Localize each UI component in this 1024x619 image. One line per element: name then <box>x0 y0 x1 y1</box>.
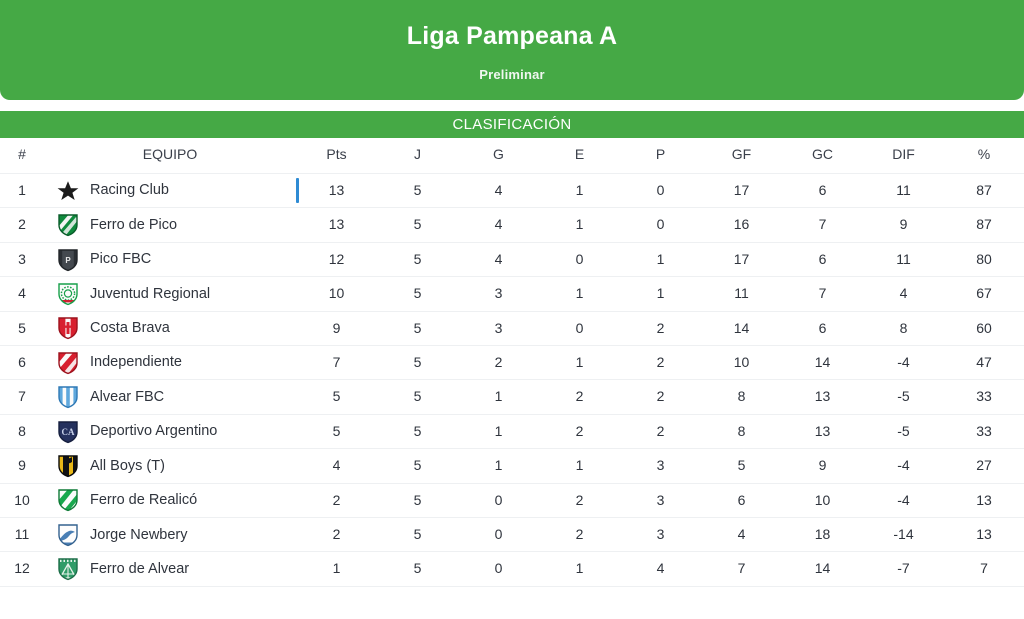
shield-star-black-icon <box>44 179 90 203</box>
row-dif: 9 <box>863 208 944 242</box>
row-pts: 2 <box>296 483 377 517</box>
team-name: Pico FBC <box>90 252 151 267</box>
team-name: Costa Brava <box>90 321 170 336</box>
row-g: 3 <box>458 311 539 345</box>
row-gf: 17 <box>701 174 782 208</box>
row-pct: 47 <box>944 346 1024 380</box>
team-name: Ferro de Realicó <box>90 493 197 508</box>
row-dif: -5 <box>863 380 944 414</box>
row-gf: 14 <box>701 311 782 345</box>
row-pct: 27 <box>944 449 1024 483</box>
row-pts: 9 <box>296 311 377 345</box>
row-rank: 10 <box>0 483 44 517</box>
row-pts: 5 <box>296 380 377 414</box>
row-dif: -4 <box>863 449 944 483</box>
row-rank: 12 <box>0 552 44 586</box>
row-gf: 8 <box>701 380 782 414</box>
row-g: 1 <box>458 449 539 483</box>
row-team[interactable]: Alvear FBC <box>44 380 296 414</box>
row-p: 2 <box>620 346 701 380</box>
row-rank: 7 <box>0 380 44 414</box>
row-e: 1 <box>539 174 620 208</box>
row-g: 0 <box>458 483 539 517</box>
row-gc: 14 <box>782 346 863 380</box>
row-pts: 1 <box>296 552 377 586</box>
row-team[interactable]: Costa Brava <box>44 311 296 345</box>
row-team[interactable]: Independiente <box>44 346 296 380</box>
row-e: 0 <box>539 311 620 345</box>
row-gc: 13 <box>782 380 863 414</box>
row-dif: 11 <box>863 174 944 208</box>
row-gf: 6 <box>701 483 782 517</box>
row-p: 0 <box>620 208 701 242</box>
row-gc: 6 <box>782 174 863 208</box>
row-gf: 17 <box>701 242 782 276</box>
row-j: 5 <box>377 346 458 380</box>
row-gc: 6 <box>782 311 863 345</box>
column-header-dif[interactable]: DIF <box>863 146 944 174</box>
row-team[interactable]: Juventud Regional <box>44 277 296 311</box>
row-j: 5 <box>377 552 458 586</box>
row-p: 2 <box>620 380 701 414</box>
standings-page: Liga Pampeana A Preliminar CLASIFICACIÓN… <box>0 0 1024 619</box>
row-pts: 7 <box>296 346 377 380</box>
row-gc: 7 <box>782 208 863 242</box>
row-j: 5 <box>377 208 458 242</box>
row-pct: 87 <box>944 174 1024 208</box>
row-pts: 10 <box>296 277 377 311</box>
section-band-clasificacion: CLASIFICACIÓN <box>0 111 1024 138</box>
tournament-stage-label: Preliminar <box>479 67 545 82</box>
row-dif: 4 <box>863 277 944 311</box>
row-dif: -5 <box>863 414 944 448</box>
row-gf: 7 <box>701 552 782 586</box>
row-rank: 11 <box>0 518 44 552</box>
team-name: Ferro de Alvear <box>90 562 189 577</box>
row-e: 0 <box>539 242 620 276</box>
row-p: 2 <box>620 414 701 448</box>
row-pts: 4 <box>296 449 377 483</box>
shield-white-blue-icon <box>44 523 90 547</box>
row-team[interactable]: PPico FBC <box>44 242 296 276</box>
team-cell: Ferro de Pico <box>44 208 296 241</box>
row-p: 1 <box>620 277 701 311</box>
row-p: 3 <box>620 449 701 483</box>
team-cell: Independiente <box>44 346 296 379</box>
team-cell: PPico FBC <box>44 243 296 276</box>
row-team[interactable]: Ferro de Realicó <box>44 483 296 517</box>
row-dif: -4 <box>863 346 944 380</box>
row-pct: 7 <box>944 552 1024 586</box>
team-cell: Juventud Regional <box>44 277 296 310</box>
shield-green-diagonal-icon <box>44 488 90 512</box>
team-cell: Racing Club <box>44 174 296 207</box>
row-pct: 80 <box>944 242 1024 276</box>
team-name: All Boys (T) <box>90 459 165 474</box>
row-p: 0 <box>620 174 701 208</box>
row-pts: 13 <box>296 208 377 242</box>
row-e: 2 <box>539 483 620 517</box>
row-g: 1 <box>458 380 539 414</box>
row-e: 1 <box>539 277 620 311</box>
standings-table-body: 1Racing Club13541017611872Ferro de Pico1… <box>0 174 1024 587</box>
table-row[interactable]: 12Ferro de Alvear15014714-77 <box>0 552 1024 586</box>
row-g: 3 <box>458 277 539 311</box>
row-dif: 11 <box>863 242 944 276</box>
svg-text:CA: CA <box>62 427 75 437</box>
row-gf: 8 <box>701 414 782 448</box>
row-j: 5 <box>377 518 458 552</box>
shield-black-yellow-icon <box>44 454 90 478</box>
row-j: 5 <box>377 449 458 483</box>
row-p: 3 <box>620 483 701 517</box>
row-team[interactable]: Ferro de Pico <box>44 208 296 242</box>
row-gc: 10 <box>782 483 863 517</box>
row-rank: 2 <box>0 208 44 242</box>
table-row[interactable]: 4Juventud Regional105311117467 <box>0 277 1024 311</box>
row-team[interactable]: Jorge Newbery <box>44 518 296 552</box>
team-cell: Alvear FBC <box>44 380 296 413</box>
table-header-row: # EQUIPO Pts J G E P GF GC DIF % <box>0 146 1024 174</box>
row-j: 5 <box>377 414 458 448</box>
row-j: 5 <box>377 174 458 208</box>
row-g: 2 <box>458 346 539 380</box>
table-row[interactable]: 6Independiente752121014-447 <box>0 346 1024 380</box>
shield-darkgrey-icon: P <box>44 248 90 272</box>
column-header-p[interactable]: P <box>620 146 701 174</box>
table-row[interactable]: 9All Boys (T)4511359-427 <box>0 449 1024 483</box>
row-e: 2 <box>539 518 620 552</box>
shield-white-green-icon <box>44 282 90 306</box>
row-pts: 13 <box>296 174 377 208</box>
row-pct: 13 <box>944 483 1024 517</box>
column-header-g[interactable]: G <box>458 146 539 174</box>
row-g: 0 <box>458 552 539 586</box>
team-name: Jorge Newbery <box>90 528 188 543</box>
table-row[interactable]: 8CADeportivo Argentino55122813-533 <box>0 414 1024 448</box>
row-gf: 11 <box>701 277 782 311</box>
team-cell: Costa Brava <box>44 312 296 345</box>
row-j: 5 <box>377 380 458 414</box>
team-name: Alvear FBC <box>90 390 164 405</box>
standings-table-container: # EQUIPO Pts J G E P GF GC DIF % 1Racing… <box>0 146 1024 587</box>
row-pct: 13 <box>944 518 1024 552</box>
row-rank: 6 <box>0 346 44 380</box>
row-g: 4 <box>458 208 539 242</box>
shield-green-white-icon <box>44 213 90 237</box>
team-cell: CADeportivo Argentino <box>44 415 296 448</box>
row-p: 4 <box>620 552 701 586</box>
row-rank: 9 <box>0 449 44 483</box>
table-row[interactable]: 2Ferro de Pico135410167987 <box>0 208 1024 242</box>
team-cell: Jorge Newbery <box>44 518 296 551</box>
table-row[interactable]: 3PPico FBC1254011761180 <box>0 242 1024 276</box>
column-header-rank[interactable]: # <box>0 146 44 174</box>
row-pts: 5 <box>296 414 377 448</box>
row-pts: 2 <box>296 518 377 552</box>
row-team[interactable]: Racing Club <box>44 174 296 208</box>
row-p: 3 <box>620 518 701 552</box>
team-cell: All Boys (T) <box>44 449 296 482</box>
table-row[interactable]: 11Jorge Newbery25023418-1413 <box>0 518 1024 552</box>
column-header-team[interactable]: EQUIPO <box>44 146 296 174</box>
row-e: 1 <box>539 449 620 483</box>
table-row[interactable]: 5Costa Brava95302146860 <box>0 311 1024 345</box>
team-cell: Ferro de Alvear <box>44 552 296 585</box>
svg-text:P: P <box>65 256 71 265</box>
row-rank: 8 <box>0 414 44 448</box>
shield-green-striped-icon <box>44 557 90 581</box>
row-g: 4 <box>458 242 539 276</box>
row-gf: 10 <box>701 346 782 380</box>
column-header-pts[interactable]: Pts <box>296 146 377 174</box>
table-row[interactable]: 1Racing Club1354101761187 <box>0 174 1024 208</box>
row-dif: 8 <box>863 311 944 345</box>
row-gc: 18 <box>782 518 863 552</box>
row-g: 4 <box>458 174 539 208</box>
page-title: Liga Pampeana A <box>407 24 617 49</box>
row-j: 5 <box>377 277 458 311</box>
row-rank: 3 <box>0 242 44 276</box>
row-e: 2 <box>539 414 620 448</box>
row-pct: 60 <box>944 311 1024 345</box>
row-dif: -7 <box>863 552 944 586</box>
row-gc: 6 <box>782 242 863 276</box>
row-p: 2 <box>620 311 701 345</box>
row-e: 1 <box>539 346 620 380</box>
table-row[interactable]: 10Ferro de Realicó25023610-413 <box>0 483 1024 517</box>
row-j: 5 <box>377 483 458 517</box>
shield-red-diagonal-icon <box>44 351 90 375</box>
table-row[interactable]: 7Alvear FBC55122813-533 <box>0 380 1024 414</box>
row-pct: 87 <box>944 208 1024 242</box>
team-name: Ferro de Pico <box>90 218 177 233</box>
column-header-pct[interactable]: % <box>944 146 1024 174</box>
tournament-header: Liga Pampeana A Preliminar <box>0 0 1024 100</box>
row-team[interactable]: CADeportivo Argentino <box>44 414 296 448</box>
row-j: 5 <box>377 311 458 345</box>
row-rank: 5 <box>0 311 44 345</box>
column-header-j[interactable]: J <box>377 146 458 174</box>
row-g: 0 <box>458 518 539 552</box>
team-cell: Ferro de Realicó <box>44 484 296 517</box>
row-dif: -4 <box>863 483 944 517</box>
row-gc: 7 <box>782 277 863 311</box>
row-dif: -14 <box>863 518 944 552</box>
row-pct: 33 <box>944 414 1024 448</box>
row-e: 1 <box>539 208 620 242</box>
row-gc: 9 <box>782 449 863 483</box>
shield-navy-icon: CA <box>44 420 90 444</box>
row-rank: 1 <box>0 174 44 208</box>
row-team[interactable]: Ferro de Alvear <box>44 552 296 586</box>
row-gc: 13 <box>782 414 863 448</box>
row-gc: 14 <box>782 552 863 586</box>
team-name: Deportivo Argentino <box>90 424 217 439</box>
column-header-e[interactable]: E <box>539 146 620 174</box>
section-band-label: CLASIFICACIÓN <box>453 117 572 132</box>
standings-table: # EQUIPO Pts J G E P GF GC DIF % 1Racing… <box>0 146 1024 587</box>
row-gf: 5 <box>701 449 782 483</box>
row-rank: 4 <box>0 277 44 311</box>
column-header-gf[interactable]: GF <box>701 146 782 174</box>
row-pts: 12 <box>296 242 377 276</box>
row-e: 2 <box>539 380 620 414</box>
team-name: Independiente <box>90 355 182 370</box>
standings-table-head: # EQUIPO Pts J G E P GF GC DIF % <box>0 146 1024 174</box>
row-j: 5 <box>377 242 458 276</box>
team-name: Racing Club <box>90 183 169 198</box>
row-team[interactable]: All Boys (T) <box>44 449 296 483</box>
row-gf: 16 <box>701 208 782 242</box>
shield-lightblue-icon <box>44 385 90 409</box>
row-pct: 67 <box>944 277 1024 311</box>
column-header-gc[interactable]: GC <box>782 146 863 174</box>
row-gf: 4 <box>701 518 782 552</box>
row-p: 1 <box>620 242 701 276</box>
row-pct: 33 <box>944 380 1024 414</box>
team-name: Juventud Regional <box>90 287 210 302</box>
row-g: 1 <box>458 414 539 448</box>
row-e: 1 <box>539 552 620 586</box>
shield-red-white-icon <box>44 316 90 340</box>
